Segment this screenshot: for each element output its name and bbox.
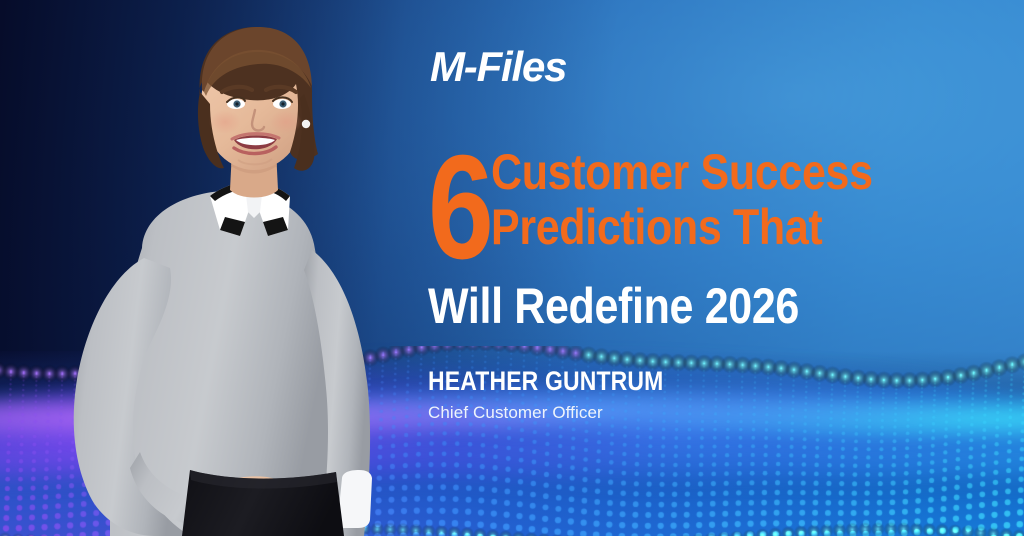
- speaker-block: HEATHER GUNTRUM Chief Customer Officer: [428, 368, 948, 421]
- promo-banner: M-Files 6 Customer Success Predictions T…: [0, 0, 1024, 536]
- headline-first-block: 6 Customer Success Predictions That: [428, 138, 988, 277]
- speaker-role: Chief Customer Officer: [428, 404, 948, 421]
- content-column: M-Files 6 Customer Success Predictions T…: [428, 0, 988, 536]
- earring: [302, 120, 310, 128]
- right-cuff: [338, 470, 372, 528]
- mfiles-logo: M-Files: [430, 46, 566, 88]
- headline-line-3: Will Redefine 2026: [428, 279, 910, 334]
- speaker-name: HEATHER GUNTRUM: [428, 368, 870, 395]
- speaker-portrait: [14, 0, 434, 536]
- headline-orange-lines: Customer Success Predictions That: [491, 138, 935, 255]
- headline-number: 6: [428, 138, 491, 277]
- headline: 6 Customer Success Predictions That Will…: [428, 138, 988, 334]
- headline-line-1: Customer Success: [491, 145, 873, 200]
- headline-line-2: Predictions That: [491, 200, 873, 255]
